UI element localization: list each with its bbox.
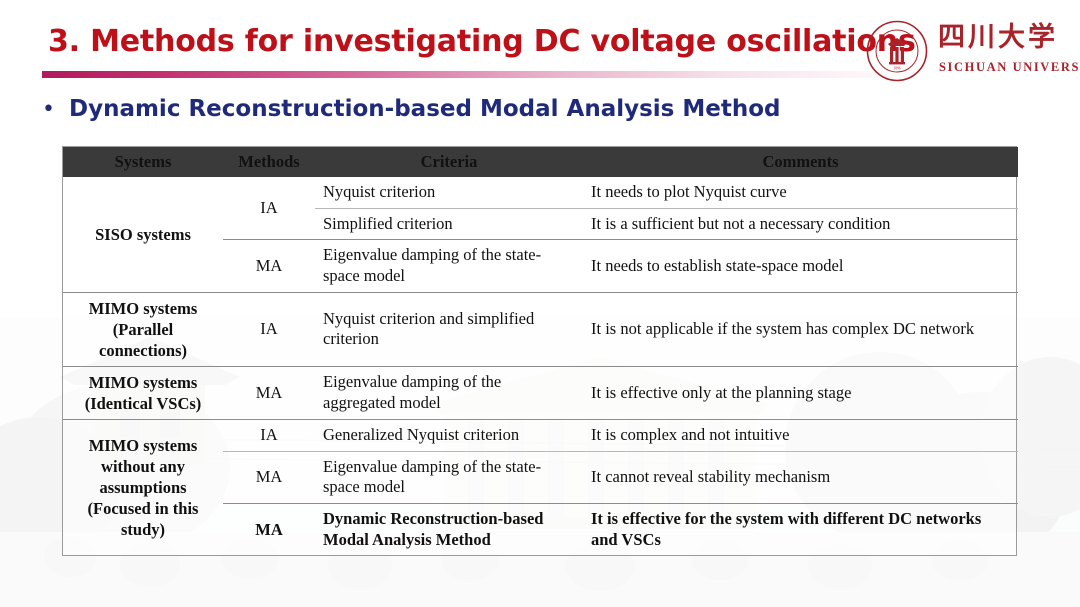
cell-method-ma: MA xyxy=(223,366,315,419)
cell-criteria: Nyquist criterion and simplified criteri… xyxy=(315,292,583,366)
cell-comments-highlighted: It is effective for the system with diff… xyxy=(583,503,1018,555)
cell-method-ia: IA xyxy=(223,292,315,366)
cell-method-ia: IA xyxy=(223,420,315,452)
cell-comments: It is complex and not intuitive xyxy=(583,420,1018,452)
table-row: SISO systems IA Nyquist criterion It nee… xyxy=(63,177,1018,208)
table-row: MIMO systems (Identical VSCs) MA Eigenva… xyxy=(63,366,1018,419)
system-line: (Identical VSCs) xyxy=(71,393,215,414)
system-line: MIMO systems xyxy=(71,435,215,456)
cell-method-ma: MA xyxy=(223,451,315,503)
cell-system-siso: SISO systems xyxy=(63,177,223,292)
logo-chinese-name: 四川大学 xyxy=(938,24,1058,51)
system-line: (Parallel xyxy=(71,319,215,340)
column-header-systems: Systems xyxy=(63,147,223,177)
system-line: without any xyxy=(71,456,215,477)
system-line: MIMO systems xyxy=(71,298,215,319)
cell-comments: It cannot reveal stability mechanism xyxy=(583,451,1018,503)
university-logo: 1896 四川大学 SICHUAN UNIVERSITY xyxy=(866,20,1066,88)
system-line: connections) xyxy=(71,340,215,361)
cell-criteria: Eigenvalue damping of the aggregated mod… xyxy=(315,366,583,419)
cell-method-ia: IA xyxy=(223,177,315,240)
bullet-heading-label: Dynamic Reconstruction-based Modal Analy… xyxy=(69,96,781,122)
slide-canvas: 3. Methods for investigating DC voltage … xyxy=(0,0,1080,607)
system-line: (Focused in this xyxy=(71,498,215,519)
table-header-row: Systems Methods Criteria Comments xyxy=(63,147,1018,177)
cell-criteria: Simplified criterion xyxy=(315,208,583,240)
system-line: MIMO systems xyxy=(71,372,215,393)
table-row: MIMO systems without any assumptions (Fo… xyxy=(63,420,1018,452)
section-bullet-heading: • Dynamic Reconstruction-based Modal Ana… xyxy=(42,96,780,122)
cell-system-mimo-identical: MIMO systems (Identical VSCs) xyxy=(63,366,223,419)
cell-comments: It is not applicable if the system has c… xyxy=(583,292,1018,366)
logo-english-name: SICHUAN UNIVERSITY xyxy=(939,60,1080,75)
page-title: 3. Methods for investigating DC voltage … xyxy=(48,24,916,59)
cell-system-mimo-parallel: MIMO systems (Parallel connections) xyxy=(63,292,223,366)
cell-comments: It needs to plot Nyquist curve xyxy=(583,177,1018,208)
cell-criteria-highlighted: Dynamic Reconstruction-based Modal Analy… xyxy=(315,503,583,555)
cell-criteria: Eigenvalue damping of the state-space mo… xyxy=(315,451,583,503)
cell-comments: It is effective only at the planning sta… xyxy=(583,366,1018,419)
system-line: study) xyxy=(71,519,215,540)
cell-system-mimo-no-assumptions: MIMO systems without any assumptions (Fo… xyxy=(63,420,223,556)
cell-criteria: Generalized Nyquist criterion xyxy=(315,420,583,452)
cell-comments: It is a sufficient but not a necessary c… xyxy=(583,208,1018,240)
cell-method-ma-highlighted: MA xyxy=(223,503,315,555)
bullet-dot-icon: • xyxy=(42,99,55,121)
methods-comparison-table: Systems Methods Criteria Comments SISO s… xyxy=(62,146,1017,556)
cell-comments: It needs to establish state-space model xyxy=(583,240,1018,292)
cell-criteria: Eigenvalue damping of the state-space mo… xyxy=(315,240,583,292)
system-line: assumptions xyxy=(71,477,215,498)
cell-criteria: Nyquist criterion xyxy=(315,177,583,208)
university-seal-icon: 1896 xyxy=(866,20,928,82)
title-underline-rule xyxy=(42,71,922,78)
column-header-comments: Comments xyxy=(583,147,1018,177)
table-row: MIMO systems (Parallel connections) IA N… xyxy=(63,292,1018,366)
svg-text:1896: 1896 xyxy=(893,67,900,71)
column-header-methods: Methods xyxy=(223,147,315,177)
cell-method-ma: MA xyxy=(223,240,315,292)
column-header-criteria: Criteria xyxy=(315,147,583,177)
